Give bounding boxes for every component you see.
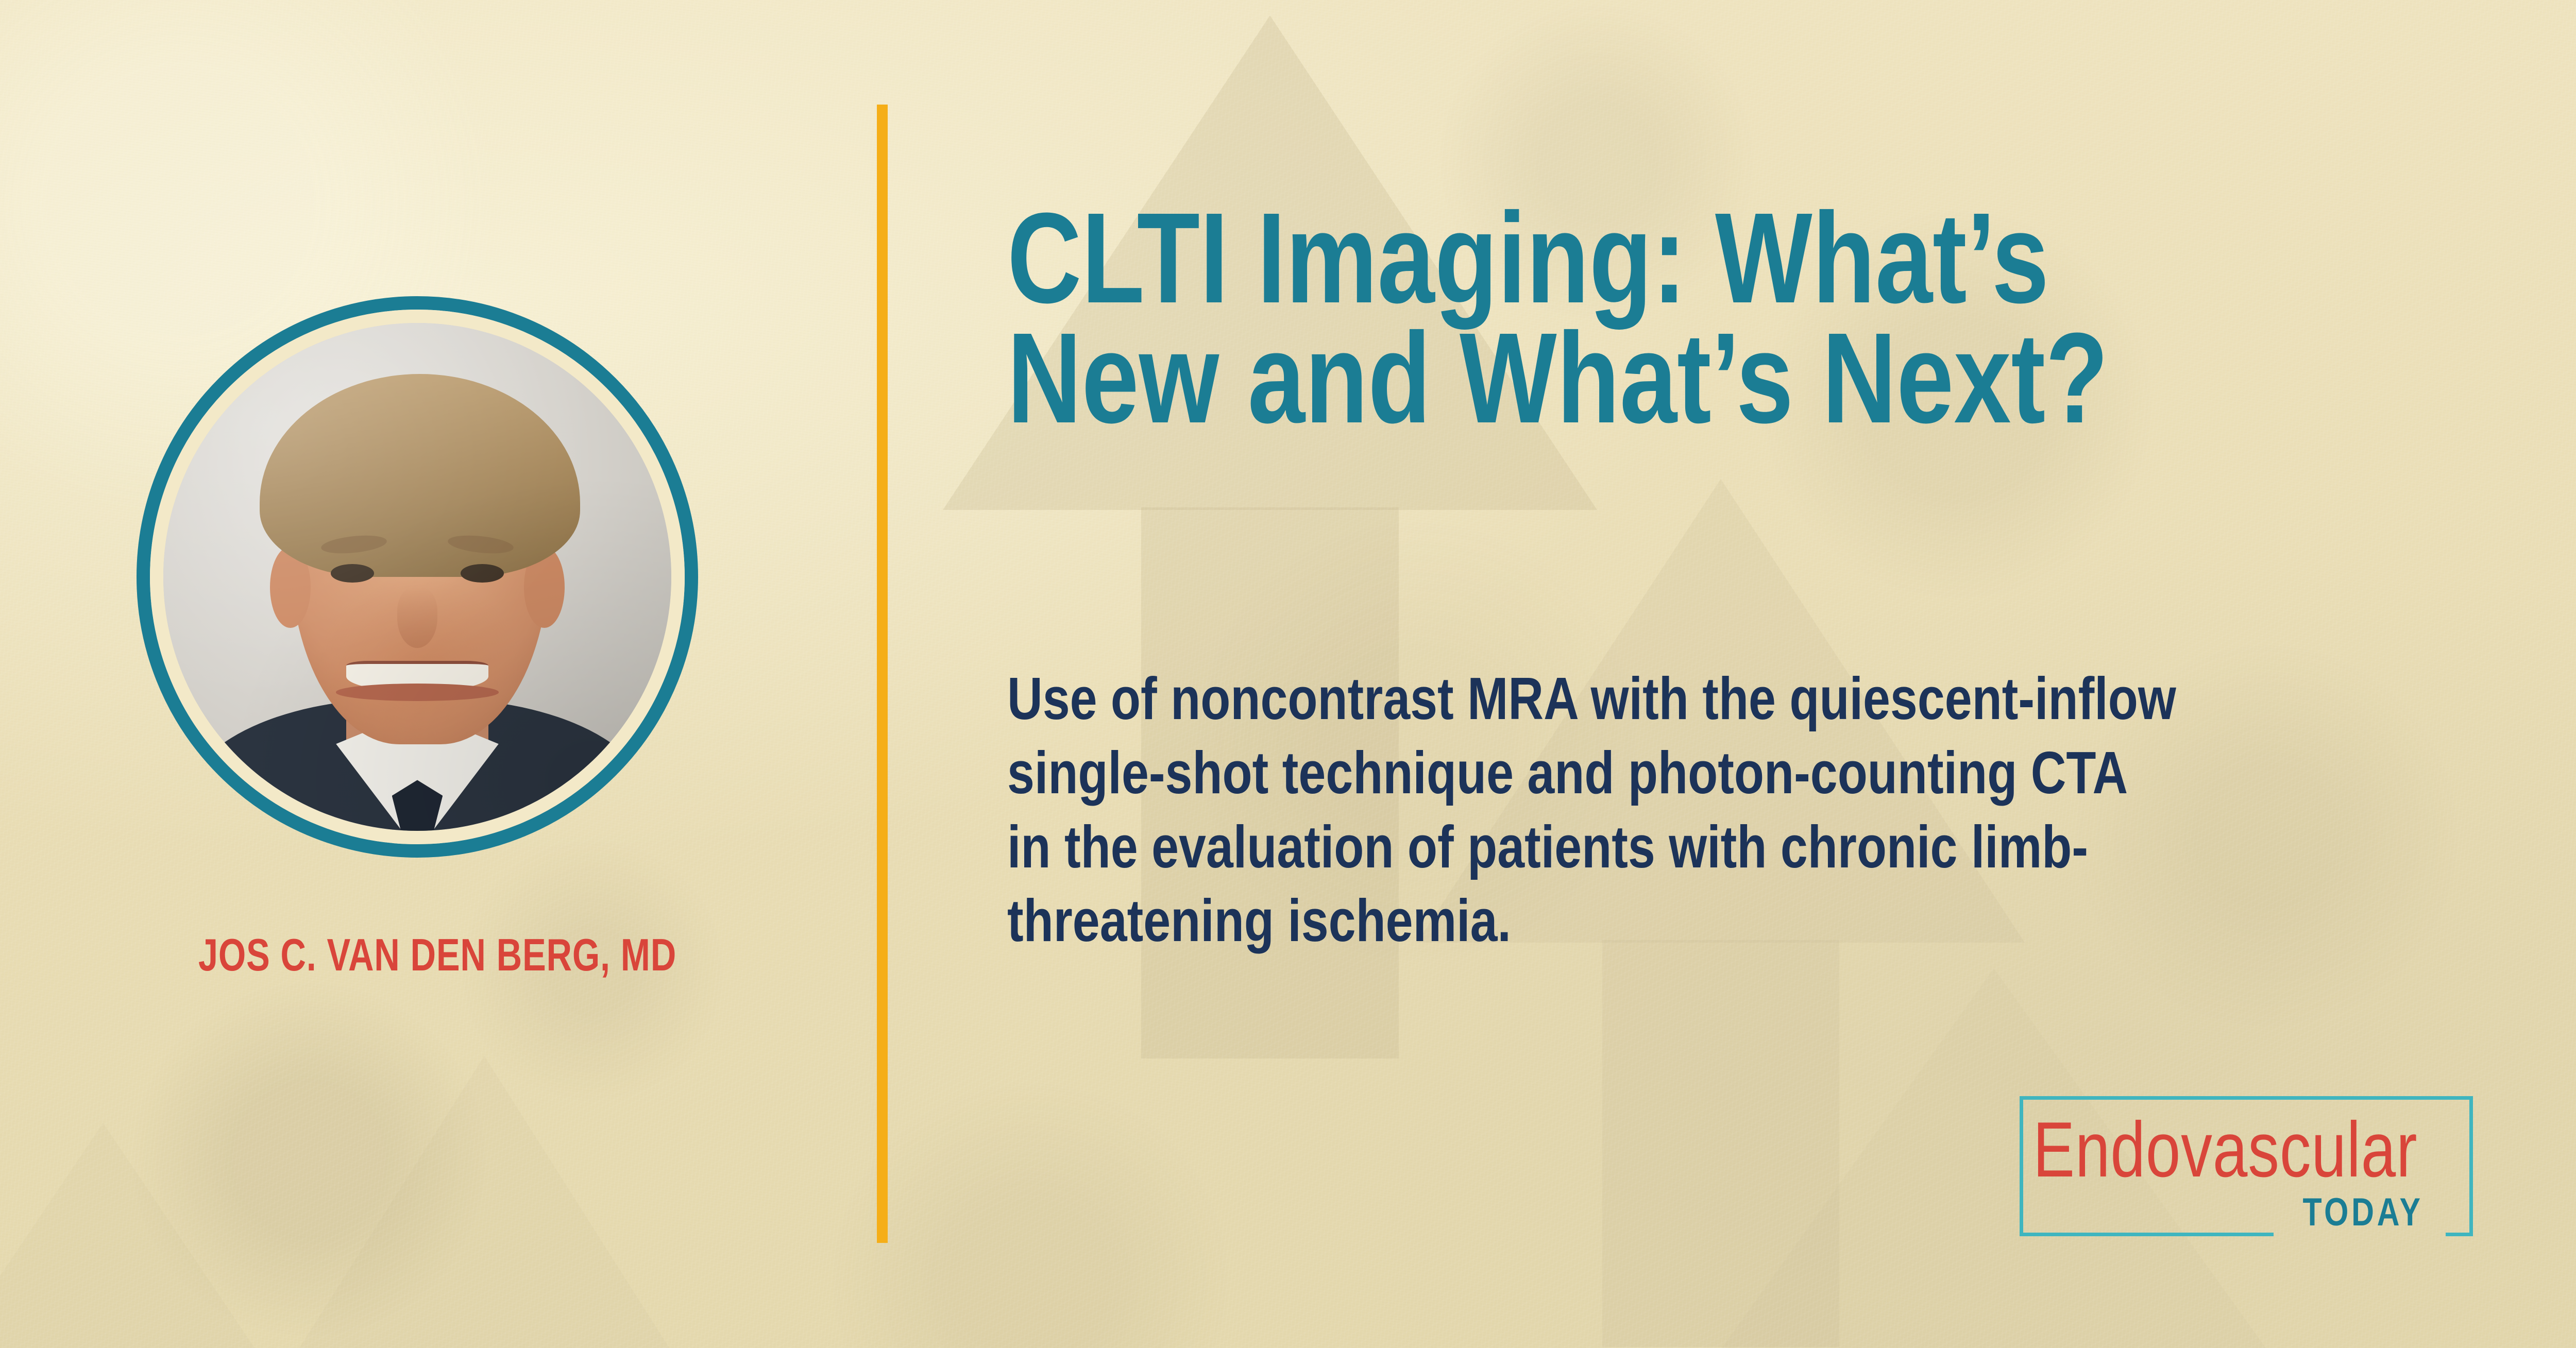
article-deck-line-3: in the evaluation of patients with chron…	[1007, 810, 2317, 884]
page-title-line-1: CLTI Imaging: What’s	[1007, 198, 2244, 318]
avatar	[137, 296, 698, 858]
logo-subword: TODAY	[2303, 1193, 2424, 1232]
article-deck-line-4: threatening ischemia.	[1007, 884, 2317, 958]
logo-bracket-left	[2020, 1096, 2023, 1236]
article-deck-line-2: single-shot technique and photon-countin…	[1007, 736, 2317, 810]
page-title: CLTI Imaging: What’s New and What’s Next…	[1007, 198, 2553, 438]
brand-logo[interactable]: Endovascular TODAY	[2020, 1096, 2473, 1236]
logo-wordmark: Endovascular	[2033, 1111, 2417, 1189]
portrait-photo	[163, 323, 671, 831]
logo-bracket-top	[2020, 1096, 2473, 1100]
page-title-line-2: New and What’s Next?	[1007, 318, 2244, 438]
logo-rule-right	[2446, 1233, 2473, 1236]
article-deck: Use of noncontrast MRA with the quiescen…	[1007, 662, 2576, 958]
author-name: JOS C. VAN DEN BERG, MD	[198, 932, 636, 978]
logo-bracket-right	[2469, 1096, 2473, 1236]
article-deck-line-1: Use of noncontrast MRA with the quiescen…	[1007, 662, 2317, 736]
article-promo-card: JOS C. VAN DEN BERG, MD CLTI Imaging: Wh…	[0, 0, 2576, 1348]
vertical-divider	[877, 105, 888, 1243]
portrait-shading	[163, 323, 671, 831]
logo-rule-left	[2020, 1233, 2274, 1236]
